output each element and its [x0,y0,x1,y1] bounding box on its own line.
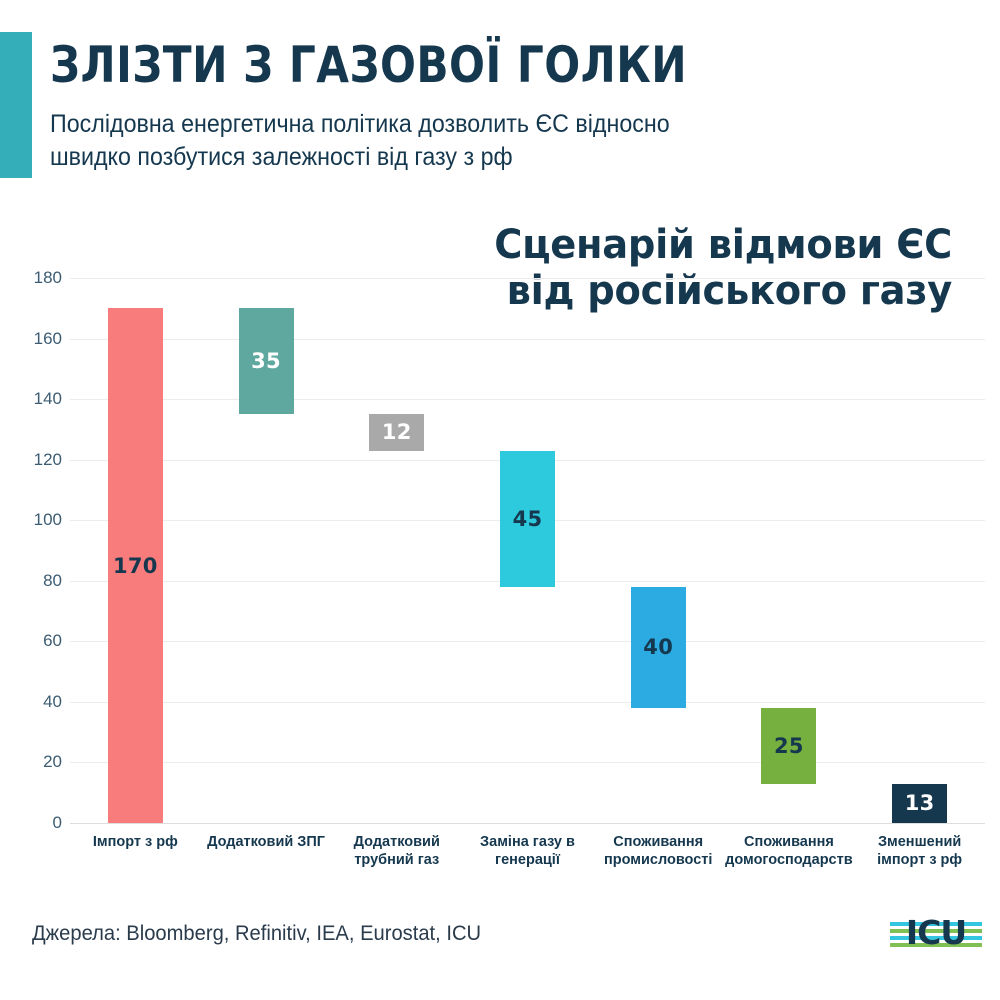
bar-7[interactable]: 13 [892,784,947,823]
logo-text: ICU [906,913,966,952]
y-axis-tick-label: 140 [4,389,62,409]
y-axis-tick-label: 0 [4,813,62,833]
accent-bar [0,32,32,178]
x-axis-label-line: Імпорт з рф [70,833,201,851]
y-axis-tick-label: 100 [4,510,62,530]
chart-title-line-1: Сценарій відмови ЄС [376,222,952,268]
bar-value-label: 13 [905,791,935,815]
x-axis-label-line: трубний газ [331,851,462,869]
x-axis-label-4: Заміна газу вгенерації [462,833,593,869]
chart-bars: 170351245402513 [70,265,985,835]
sources-note: Джерела: Bloomberg, Refinitiv, IEA, Euro… [32,922,481,946]
y-axis: 020406080100120140160180 [0,265,62,835]
x-axis-label-line: Зменшений [854,833,985,851]
x-axis-label-line: домогосподарств [724,851,855,869]
y-axis-tick-label: 160 [4,329,62,349]
x-axis-label-line: промисловості [593,851,724,869]
header: ЗЛІЗТИ З ГАЗОВОЇ ГОЛКИ Послідовна енерге… [0,0,1000,205]
bar-value-label: 35 [251,349,281,373]
x-axis-label-line: Споживання [724,833,855,851]
x-axis-label-line: Заміна газу в [462,833,593,851]
icu-logo-icon: ICU [888,908,984,958]
subtitle-line-1: Послідовна енергетична політика дозволит… [50,108,887,141]
y-axis-tick-label: 20 [4,752,62,772]
bar-value-label: 12 [382,420,412,444]
y-axis-tick-label: 60 [4,631,62,651]
x-axis-label-7: Зменшенийімпорт з рф [854,833,985,869]
footer: Джерела: Bloomberg, Refinitiv, IEA, Euro… [0,900,1000,1000]
bar-2[interactable]: 35 [239,308,294,414]
bar-value-label: 40 [643,635,673,659]
x-axis-label-5: Споживанняпромисловості [593,833,724,869]
y-axis-tick-label: 180 [4,268,62,288]
waterfall-chart: 020406080100120140160180 170351245402513 [0,265,1000,835]
y-axis-tick-label: 80 [4,571,62,591]
x-axis-label-2: Додатковий ЗПГ [201,833,332,851]
x-axis-label-line: імпорт з рф [854,851,985,869]
page-subtitle: Послідовна енергетична політика дозволит… [50,108,887,174]
x-axis-label-line: Додатковий ЗПГ [201,833,332,851]
bar-6[interactable]: 25 [761,708,816,784]
bar-value-label: 45 [513,507,543,531]
bar-value-label: 25 [774,734,804,758]
bar-5[interactable]: 40 [631,587,686,708]
page-title: ЗЛІЗТИ З ГАЗОВОЇ ГОЛКИ [50,36,687,94]
x-axis-label-line: генерації [462,851,593,869]
x-axis-label-3: Додатковийтрубний газ [331,833,462,869]
bar-3[interactable]: 12 [369,414,424,450]
y-axis-tick-label: 120 [4,450,62,470]
bar-4[interactable]: 45 [500,451,555,587]
x-axis-label-line: Споживання [593,833,724,851]
x-axis-labels: Імпорт з рфДодатковий ЗПГДодатковийтрубн… [70,833,985,885]
y-axis-tick-label: 40 [4,692,62,712]
subtitle-line-2: швидко позбутися залежності від газу з р… [50,141,887,174]
bar-value-label: 170 [113,554,158,578]
icu-logo: ICU [888,908,984,958]
bar-1[interactable]: 170 [108,308,163,823]
x-axis-label-1: Імпорт з рф [70,833,201,851]
x-axis-label-6: Споживаннядомогосподарств [724,833,855,869]
x-axis-label-line: Додатковий [331,833,462,851]
